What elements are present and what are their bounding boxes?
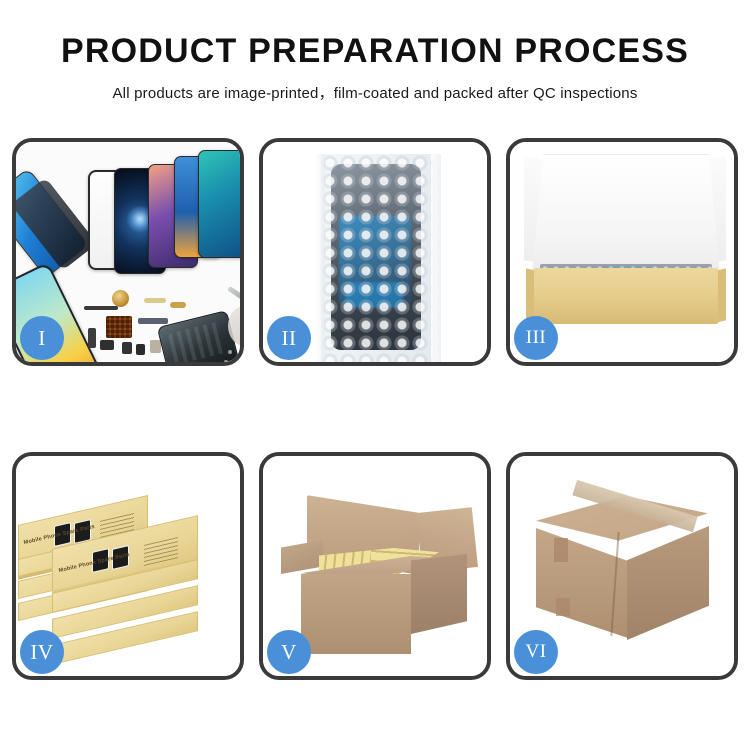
- carton-front-face: [301, 574, 411, 654]
- step-badge-1: I: [20, 316, 64, 360]
- step-panel-1[interactable]: I: [12, 138, 244, 366]
- flex-cable-1: [84, 306, 118, 310]
- phone-chassis-opened: [157, 310, 239, 362]
- header: PRODUCT PREPARATION PROCESS All products…: [0, 0, 750, 103]
- tape-strip-lower: [556, 598, 570, 616]
- step-panel-4[interactable]: Mobile Phone Spare Parts: [12, 452, 244, 680]
- step-badge-5: V: [267, 630, 311, 674]
- connector-part-2: [100, 340, 114, 350]
- spare-parts-cluster: [78, 288, 240, 362]
- step-panel-5[interactable]: V: [259, 452, 491, 680]
- product-preparation-infographic: PRODUCT PREPARATION PROCESS All products…: [0, 0, 750, 750]
- connector-part-5: [150, 340, 161, 353]
- screw-2: [236, 358, 240, 362]
- flex-cable-2: [144, 298, 166, 303]
- flex-cable-3: [170, 302, 186, 308]
- chip-grid-part: [106, 316, 132, 338]
- connector-part-4: [136, 344, 145, 355]
- step-badge-4: IV: [20, 630, 64, 674]
- connector-part-1: [88, 328, 96, 348]
- connector-part-3: [122, 342, 132, 354]
- carton-flap-left: [281, 540, 323, 574]
- bag-seal-left: [315, 154, 325, 362]
- coil-part-icon: [112, 290, 129, 307]
- flex-cable-4: [138, 318, 168, 324]
- step-panel-6[interactable]: VI: [506, 452, 738, 680]
- step-panel-2[interactable]: II: [259, 138, 491, 366]
- screw-3: [224, 360, 228, 362]
- carton-right-face: [411, 554, 467, 634]
- mailer-base: [534, 268, 718, 324]
- tweezers-icon: [227, 286, 240, 307]
- step-badge-2: II: [267, 316, 311, 360]
- step-badge-6: VI: [514, 630, 558, 674]
- bag-seal-right: [431, 154, 441, 362]
- step-badge-3: III: [514, 316, 558, 360]
- page-subtitle: All products are image-printed，film-coat…: [0, 82, 750, 103]
- wrapped-product: [331, 164, 421, 350]
- mailer-lid: [532, 154, 720, 274]
- sealed-carton-right-face: [627, 526, 709, 640]
- tape-strip-upper: [554, 538, 568, 562]
- phone-screen-teal: [198, 150, 240, 258]
- step-panel-3[interactable]: III: [506, 138, 738, 366]
- steps-grid: I II III: [12, 138, 738, 680]
- screw-1: [228, 350, 232, 354]
- page-title: PRODUCT PREPARATION PROCESS: [0, 34, 750, 68]
